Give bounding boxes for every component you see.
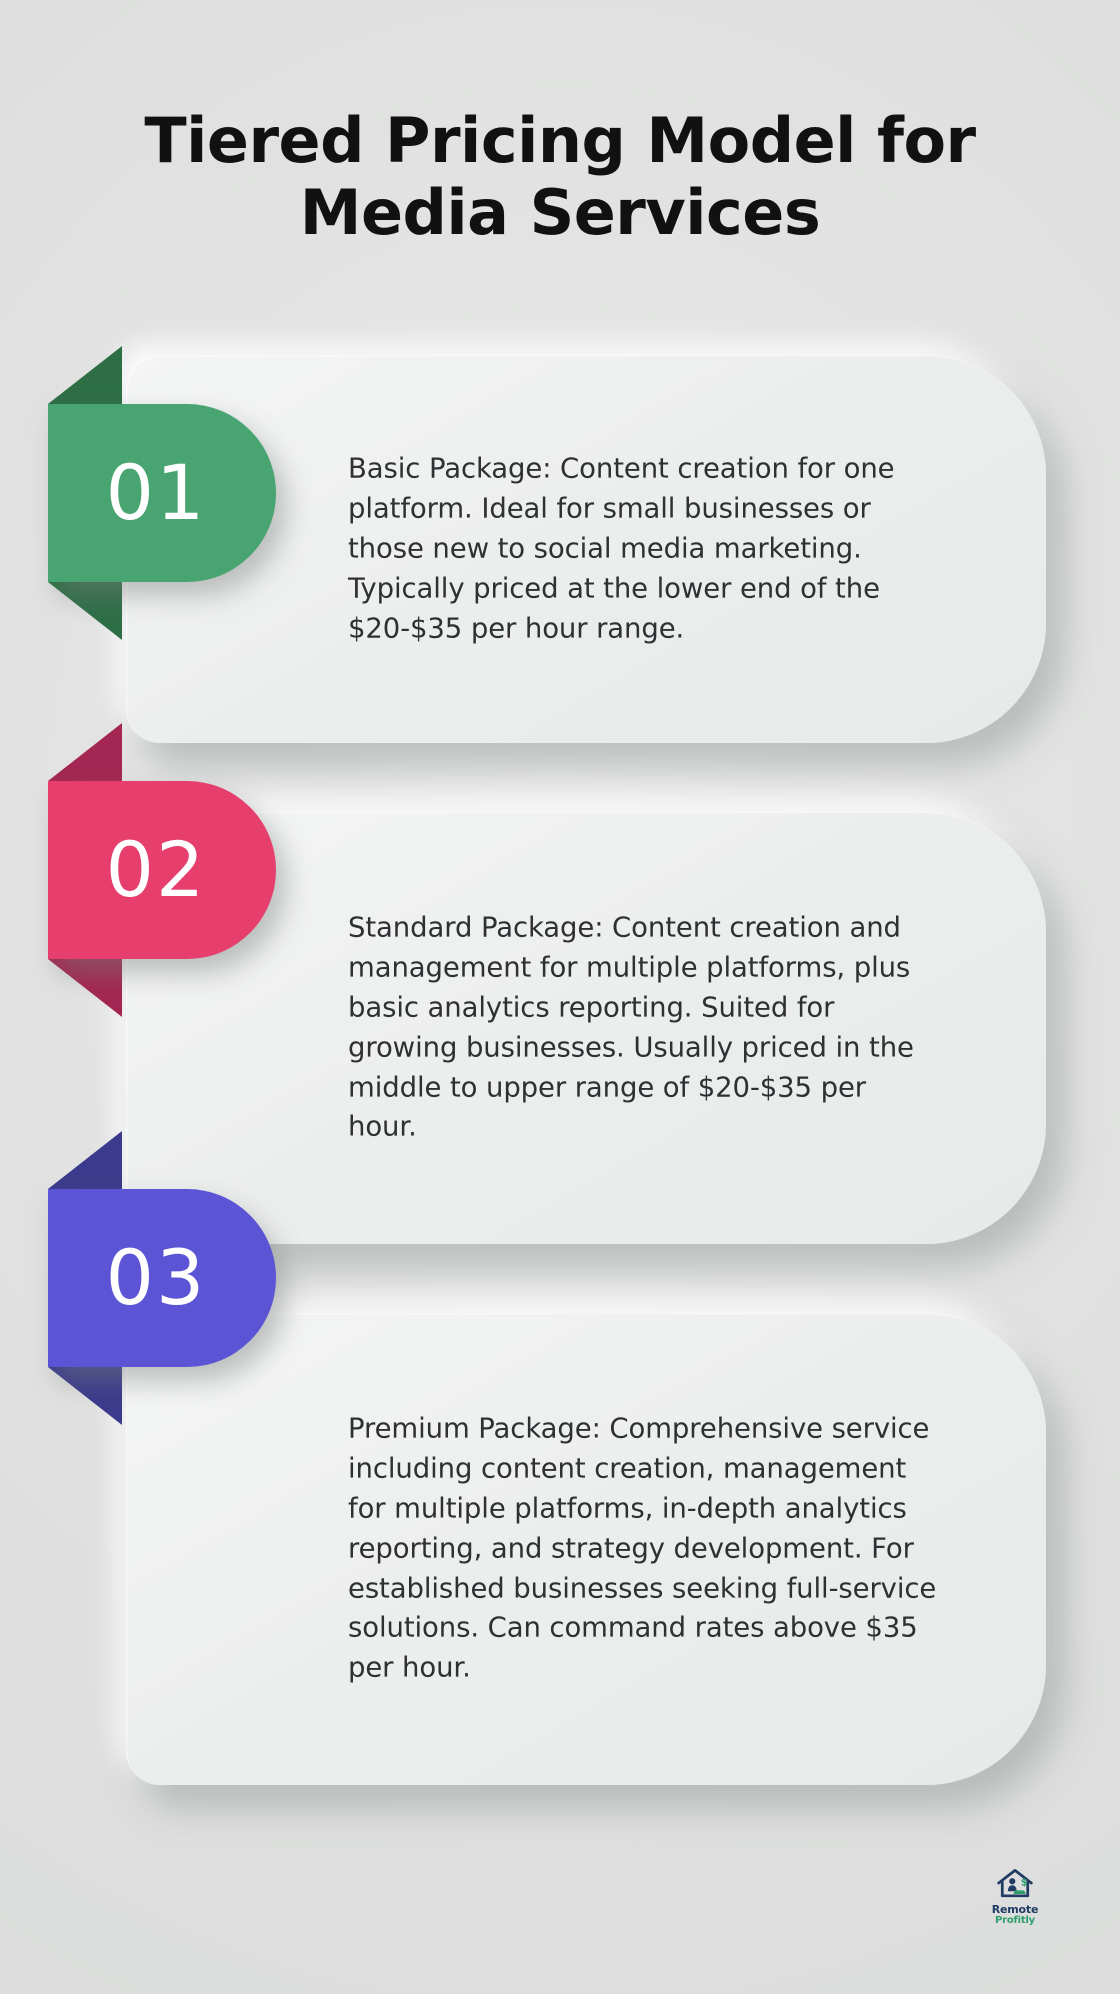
tier-badge-1: 01 [48, 404, 276, 582]
tier-badge-1-number: 01 [106, 455, 207, 531]
tier-card-1-body: Basic Package: Content creation for one … [348, 449, 928, 648]
tier-card-3[interactable]: Premium Package: Comprehensive service i… [126, 1313, 1046, 1785]
tier-badge-3: 03 [48, 1189, 276, 1367]
house-laptop-dollar-icon: $ [995, 1866, 1035, 1902]
brand-logo: $ Remote Profitly [981, 1866, 1049, 1938]
tier-card-1[interactable]: Basic Package: Content creation for one … [126, 355, 1046, 743]
tier-card-2-body: Standard Package: Content creation and m… [348, 908, 928, 1147]
page-title-line-2: Media Services [300, 176, 820, 249]
tier-badge-2-fold-top [48, 723, 122, 781]
brand-logo-word-bottom: Profitly [995, 1916, 1035, 1927]
tier-badge-2: 02 [48, 781, 276, 959]
page-title: Tiered Pricing Model for Media Services [62, 105, 1058, 249]
tier-badge-3-fold-bottom [48, 1367, 122, 1425]
svg-text:$: $ [1021, 1877, 1028, 1888]
tier-badge-1-fold-top [48, 346, 122, 404]
tier-badge-1-fold-bottom [48, 582, 122, 640]
infographic-canvas: Tiered Pricing Model for Media Services … [0, 0, 1120, 1994]
brand-logo-word-top: Remote [992, 1904, 1038, 1916]
tier-badge-3-number: 03 [106, 1240, 207, 1316]
page-title-line-1: Tiered Pricing Model for [144, 104, 975, 177]
tier-badge-2-fold-bottom [48, 959, 122, 1017]
tier-badge-3-fold-top [48, 1131, 122, 1189]
tier-card-3-body: Premium Package: Comprehensive service i… [348, 1409, 950, 1688]
tier-badge-2-number: 02 [106, 832, 207, 908]
